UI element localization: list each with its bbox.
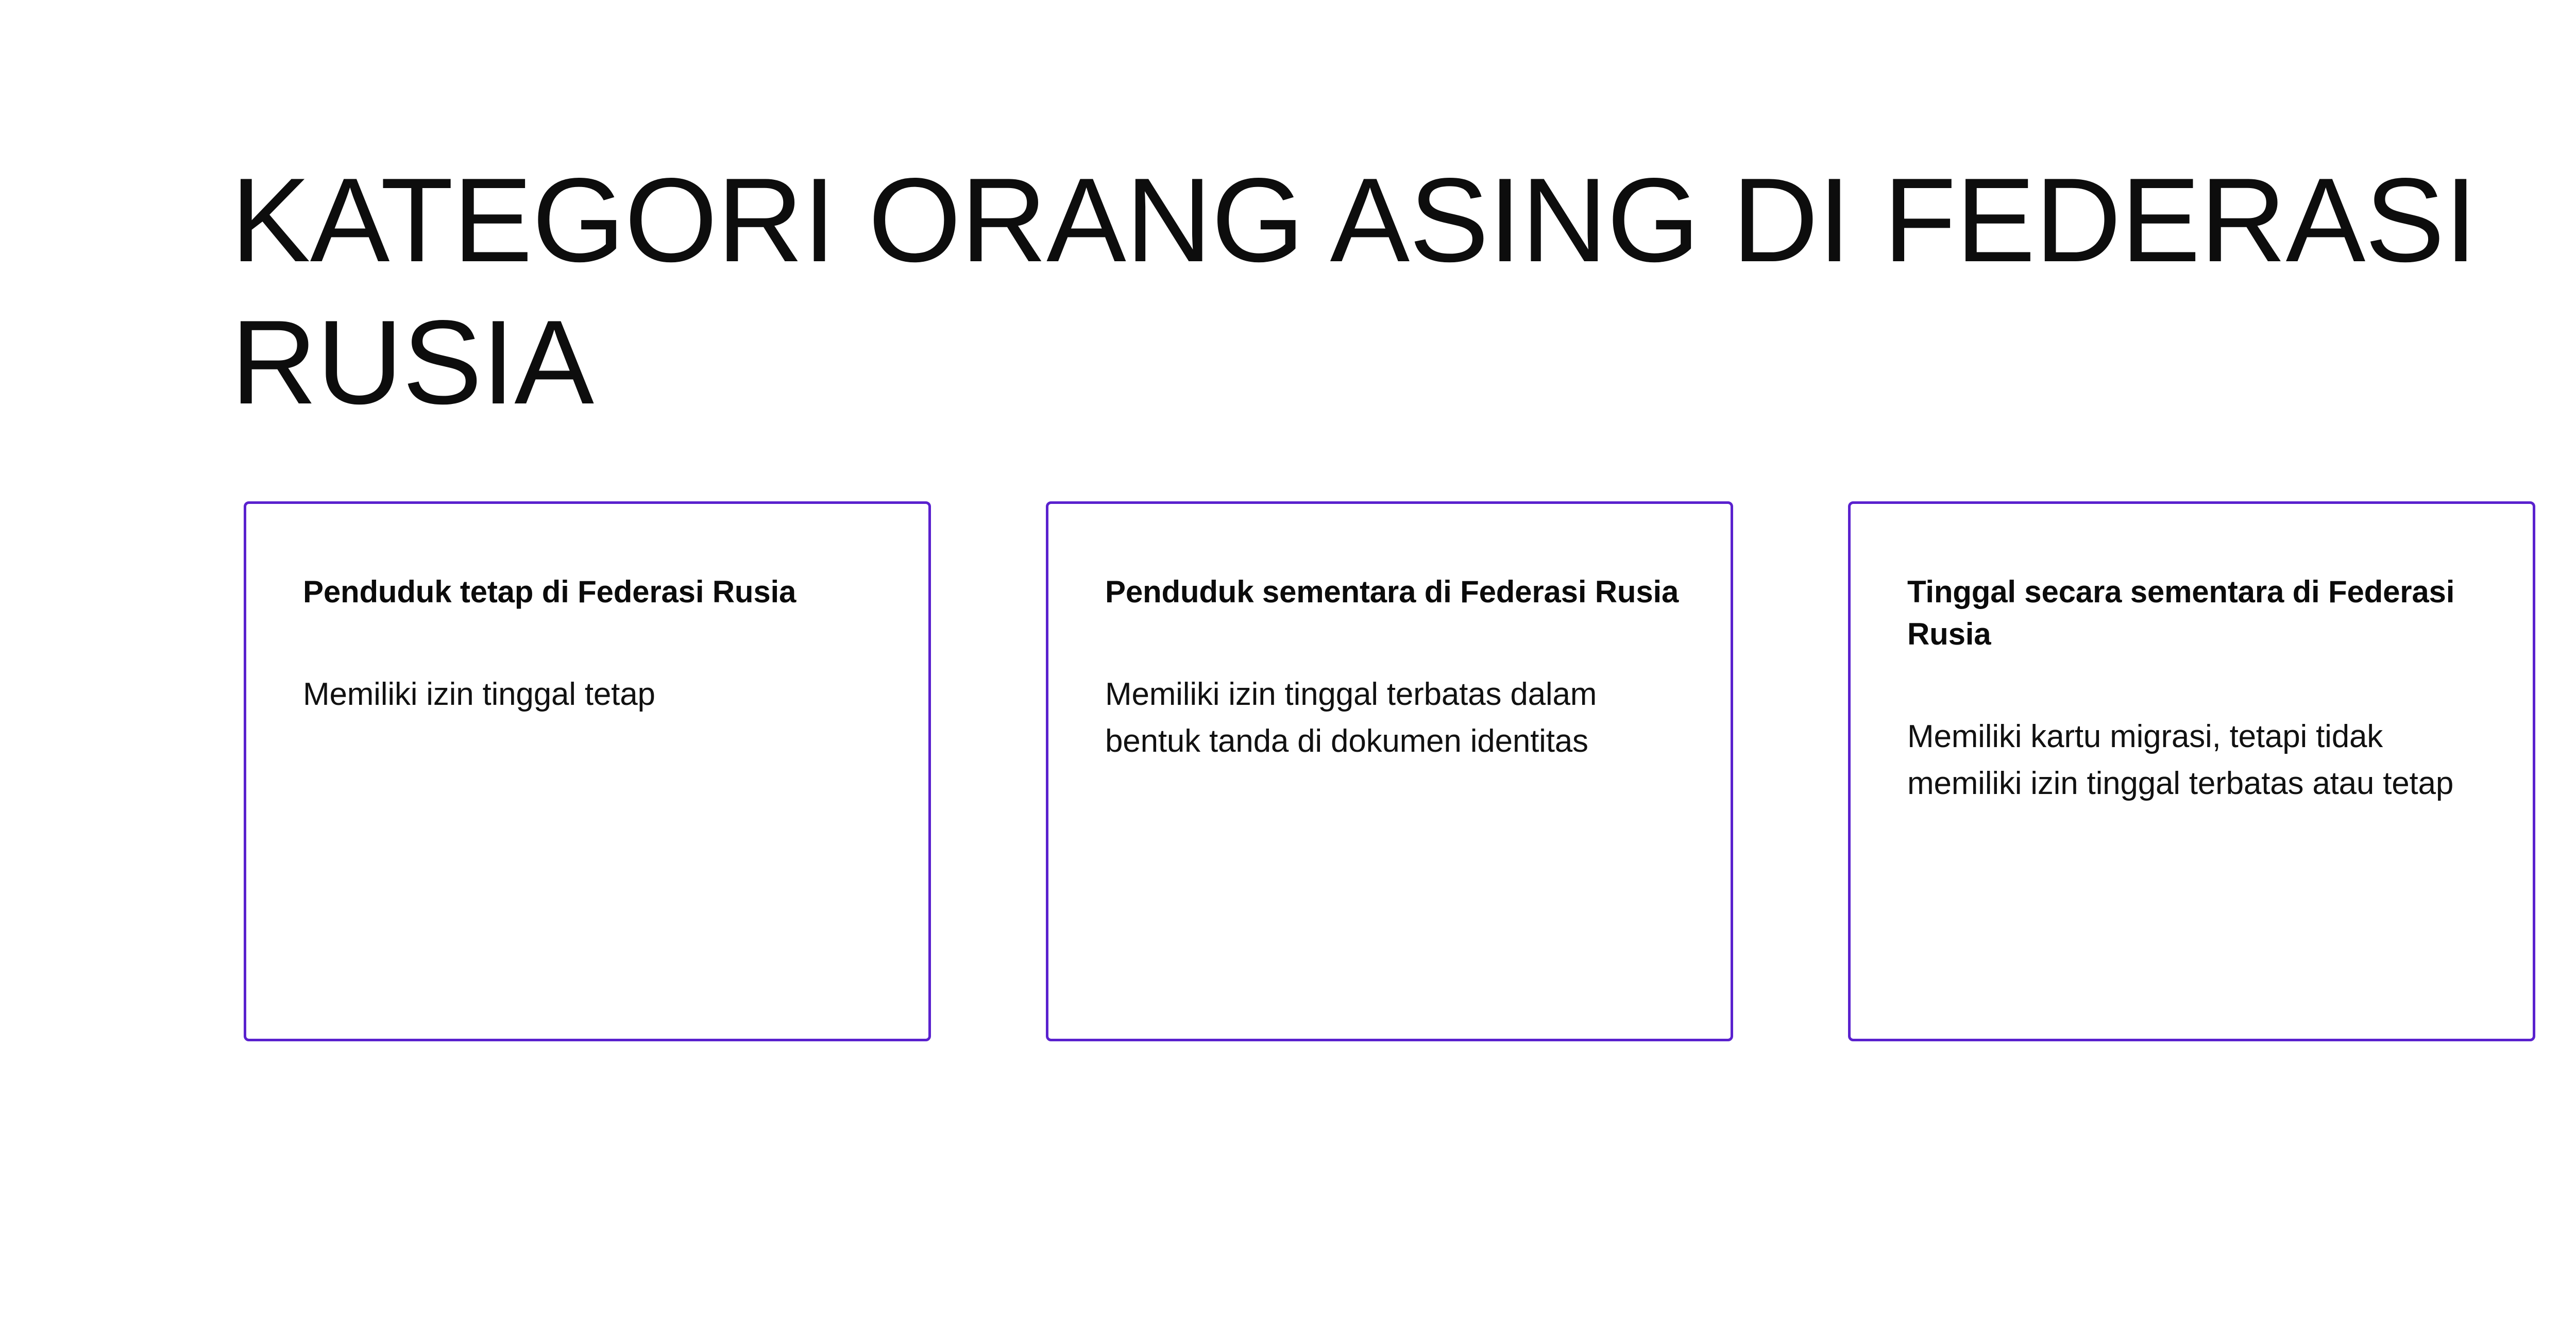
category-card-list: Penduduk tetap di Federasi Rusia Memilik…	[244, 501, 2535, 1041]
category-card: Penduduk tetap di Federasi Rusia Memilik…	[244, 501, 931, 1041]
category-card-title: Penduduk tetap di Federasi Rusia	[303, 571, 877, 613]
category-card: Penduduk sementara di Federasi Rusia Mem…	[1046, 501, 1733, 1041]
category-card-body: Memiliki izin tinggal tetap	[303, 613, 877, 718]
category-card-body: Memiliki izin tinggal terbatas dalam ben…	[1105, 613, 1679, 765]
page-title: KATEGORI ORANG ASING DI FEDERASI RUSIA	[231, 149, 2576, 434]
category-card-title: Penduduk sementara di Federasi Rusia	[1105, 571, 1679, 613]
slide-canvas: KATEGORI ORANG ASING DI FEDERASI RUSIA P…	[0, 0, 2576, 1318]
category-card-title: Tinggal secara sementara di Federasi Rus…	[1907, 571, 2481, 655]
category-card: Tinggal secara sementara di Federasi Rus…	[1848, 501, 2535, 1041]
category-card-body: Memiliki kartu migrasi, tetapi tidak mem…	[1907, 655, 2481, 807]
title-block: KATEGORI ORANG ASING DI FEDERASI RUSIA	[231, 149, 2576, 434]
